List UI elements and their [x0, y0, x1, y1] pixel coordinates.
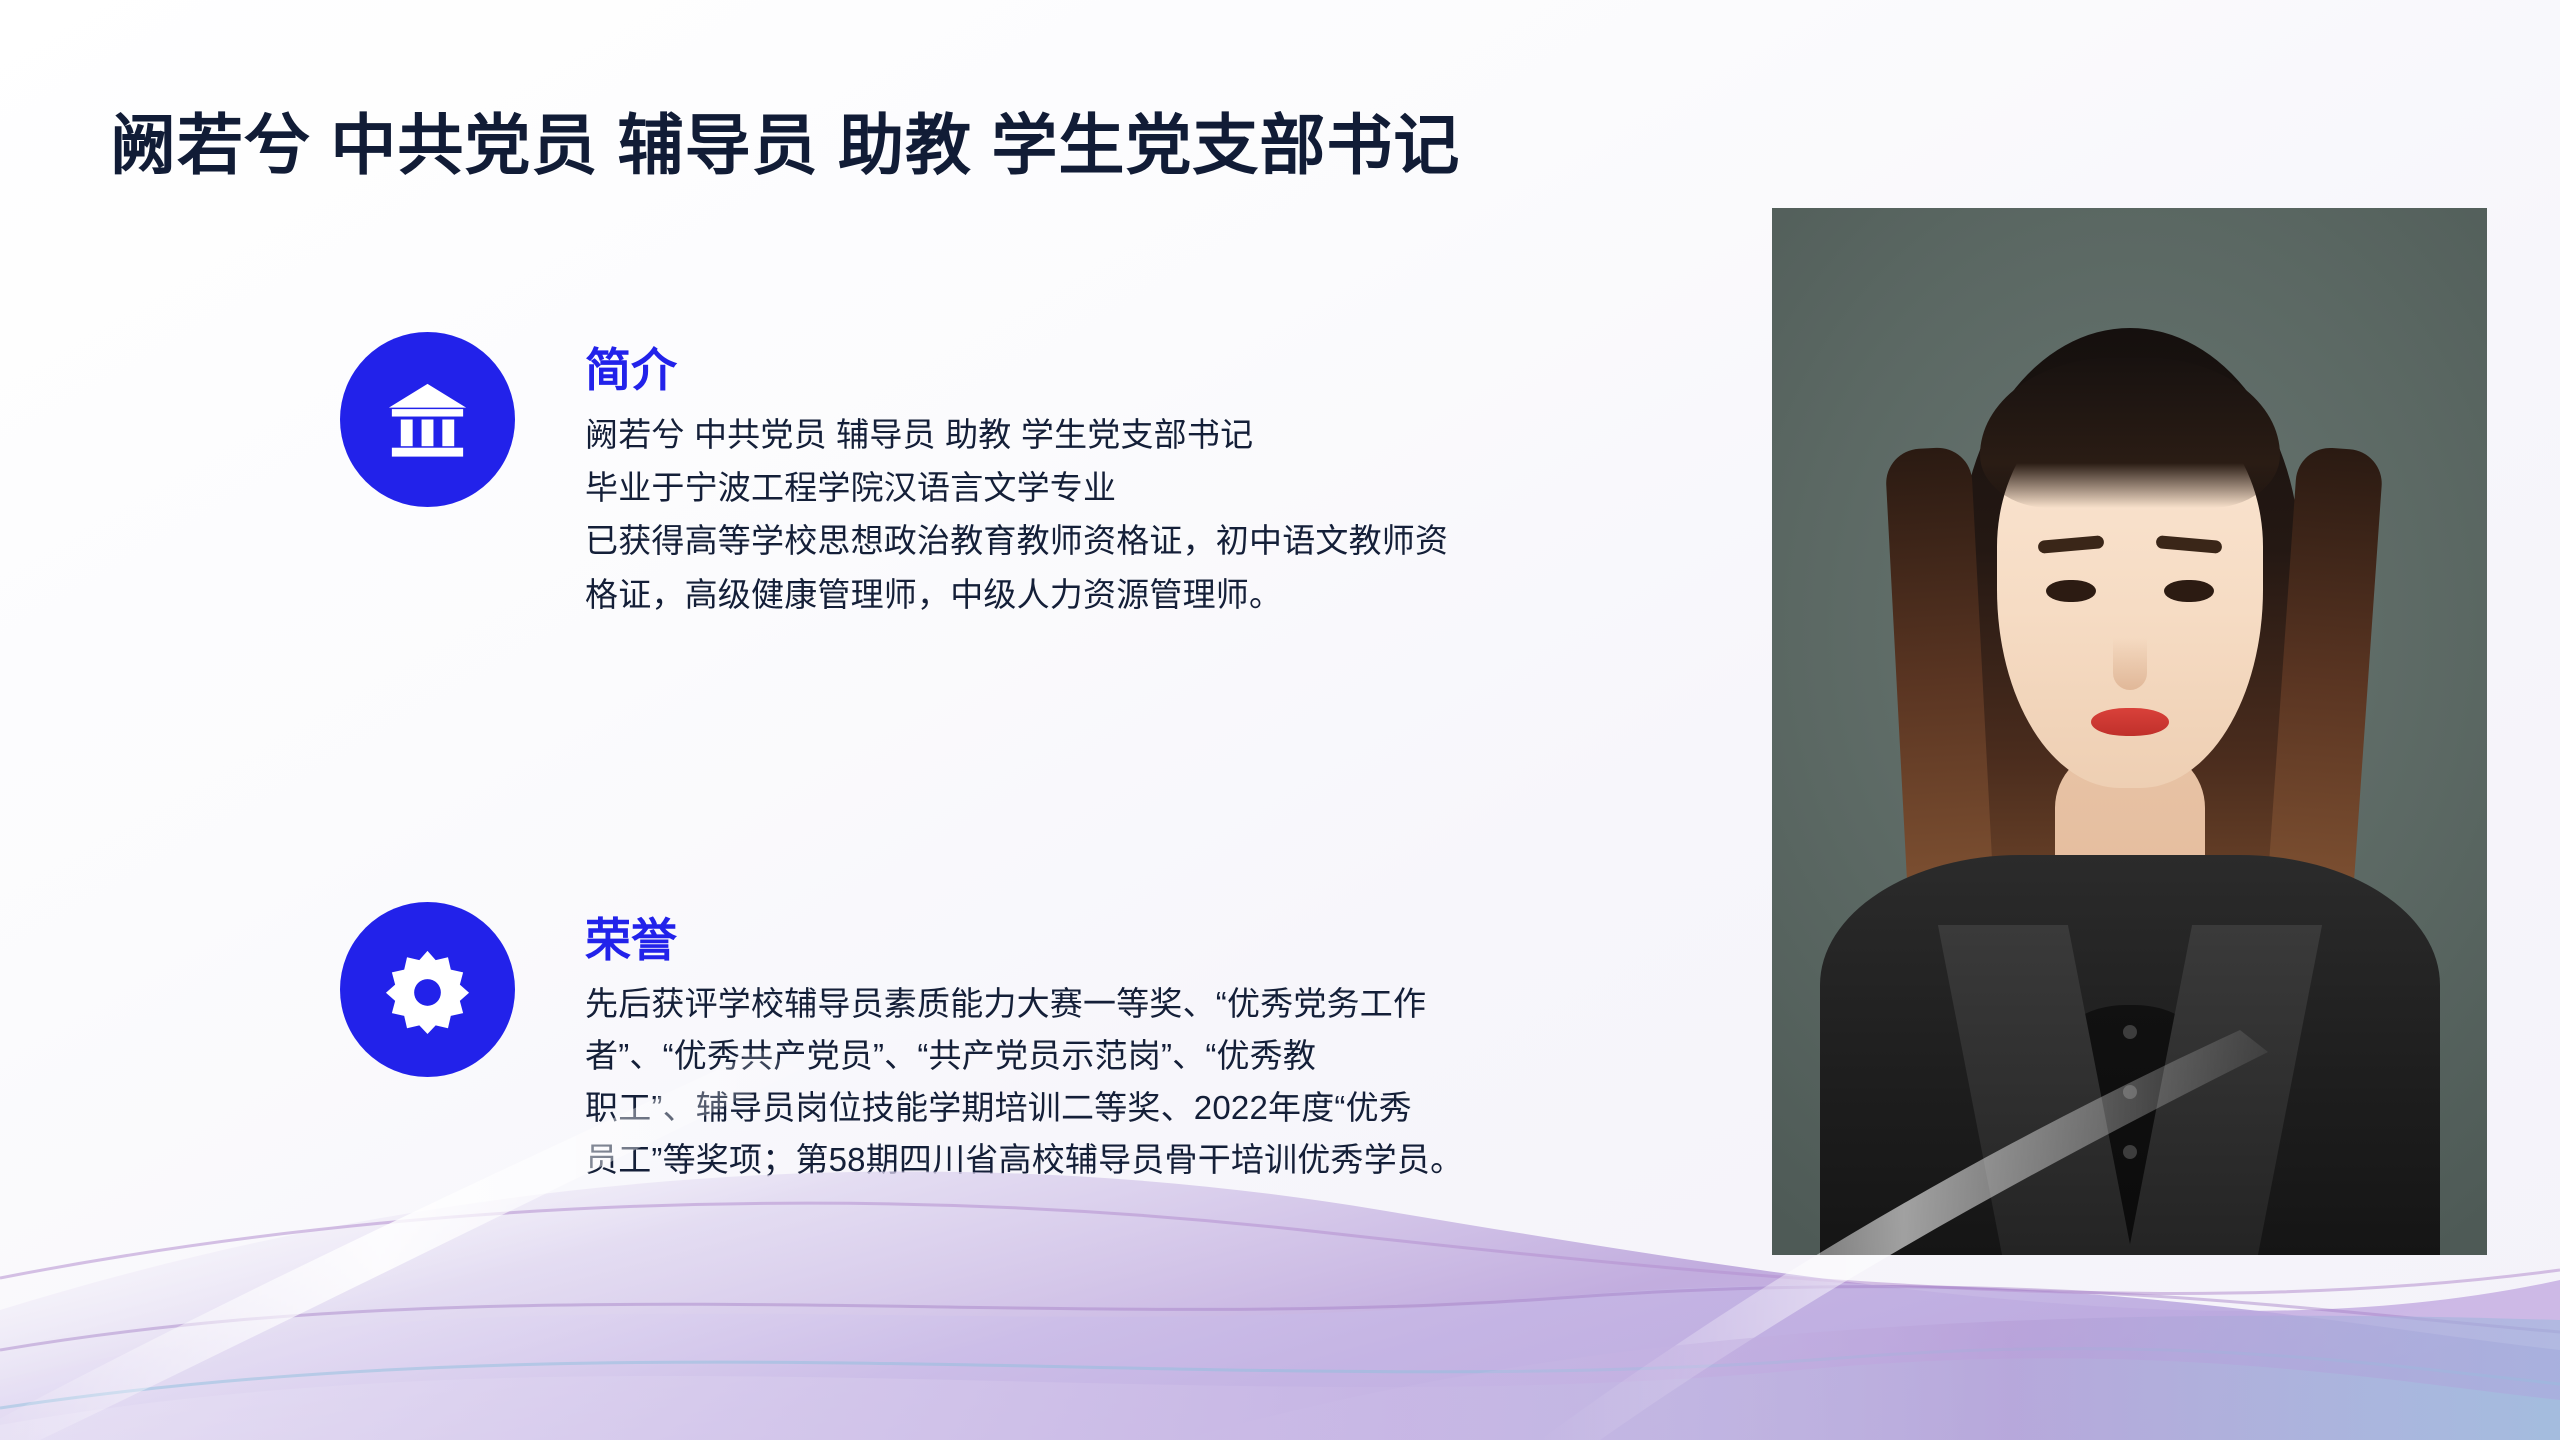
- section-intro-body: 阙若兮 中共党员 辅导员 助教 学生党支部书记 毕业于宁波工程学院汉语言文学专业…: [585, 408, 1448, 622]
- portrait-button: [2123, 1085, 2137, 1099]
- intro-line: 阙若兮 中共党员 辅导员 助教 学生党支部书记: [585, 408, 1448, 461]
- intro-line: 毕业于宁波工程学院汉语言文学专业: [585, 461, 1448, 514]
- portrait-button: [2123, 1025, 2137, 1039]
- section-honor: 荣誉 先后获评学校辅导员素质能力大赛一等奖、“优秀党务工作 者”、“优秀共产党员…: [340, 900, 1463, 1186]
- portrait-eye-right: [2164, 580, 2214, 602]
- wave-shape-2: [0, 1285, 2560, 1440]
- honor-line: 职工”、辅导员岗位技能学期培训二等奖、2022年度“优秀: [585, 1082, 1463, 1134]
- wave-line-3: [0, 1349, 2560, 1408]
- section-intro-text: 简介 阙若兮 中共党员 辅导员 助教 学生党支部书记 毕业于宁波工程学院汉语言文…: [585, 330, 1448, 621]
- section-honor-body: 先后获评学校辅导员素质能力大赛一等奖、“优秀党务工作 者”、“优秀共产党员”、“…: [585, 978, 1463, 1187]
- portrait-eye-left: [2046, 580, 2096, 602]
- honor-line: 先后获评学校辅导员素质能力大赛一等奖、“优秀党务工作: [585, 978, 1463, 1030]
- bank-icon: [340, 332, 515, 507]
- section-intro: 简介 阙若兮 中共党员 辅导员 助教 学生党支部书记 毕业于宁波工程学院汉语言文…: [340, 330, 1448, 621]
- honor-line: 者”、“优秀共产党员”、“共产党员示范岗”、“优秀教: [585, 1030, 1463, 1082]
- portrait-nose: [2113, 638, 2147, 690]
- intro-line: 已获得高等学校思想政治教育教师资格证，初中语文教师资: [585, 514, 1448, 567]
- wave-shape-3: [0, 1358, 2560, 1440]
- gear-icon: [340, 902, 515, 1077]
- intro-line: 格证，高级健康管理师，中级人力资源管理师。: [585, 568, 1448, 621]
- portrait-photo: 职业证件照 女性 黑色西装: [1772, 208, 2487, 1255]
- page-title: 阙若兮 中共党员 辅导员 助教 学生党支部书记: [110, 108, 1460, 184]
- portrait-lips: [2091, 708, 2169, 736]
- section-honor-text: 荣誉 先后获评学校辅导员素质能力大赛一等奖、“优秀党务工作 者”、“优秀共产党员…: [585, 900, 1463, 1186]
- wave-shape-4: [1180, 1316, 2560, 1440]
- section-intro-heading: 简介: [585, 342, 1448, 400]
- section-honor-heading: 荣誉: [585, 912, 1463, 970]
- portrait-jacket: [1820, 855, 2440, 1255]
- wave-line-2: [0, 1287, 2560, 1350]
- portrait-button: [2123, 1145, 2137, 1159]
- honor-line: 员工”等奖项；第58期四川省高校辅导员骨干培训优秀学员。: [585, 1134, 1463, 1186]
- slide-canvas: 阙若兮 中共党员 辅导员 助教 学生党支部书记 简介 阙若兮 中共党员 辅导员 …: [0, 0, 2560, 1440]
